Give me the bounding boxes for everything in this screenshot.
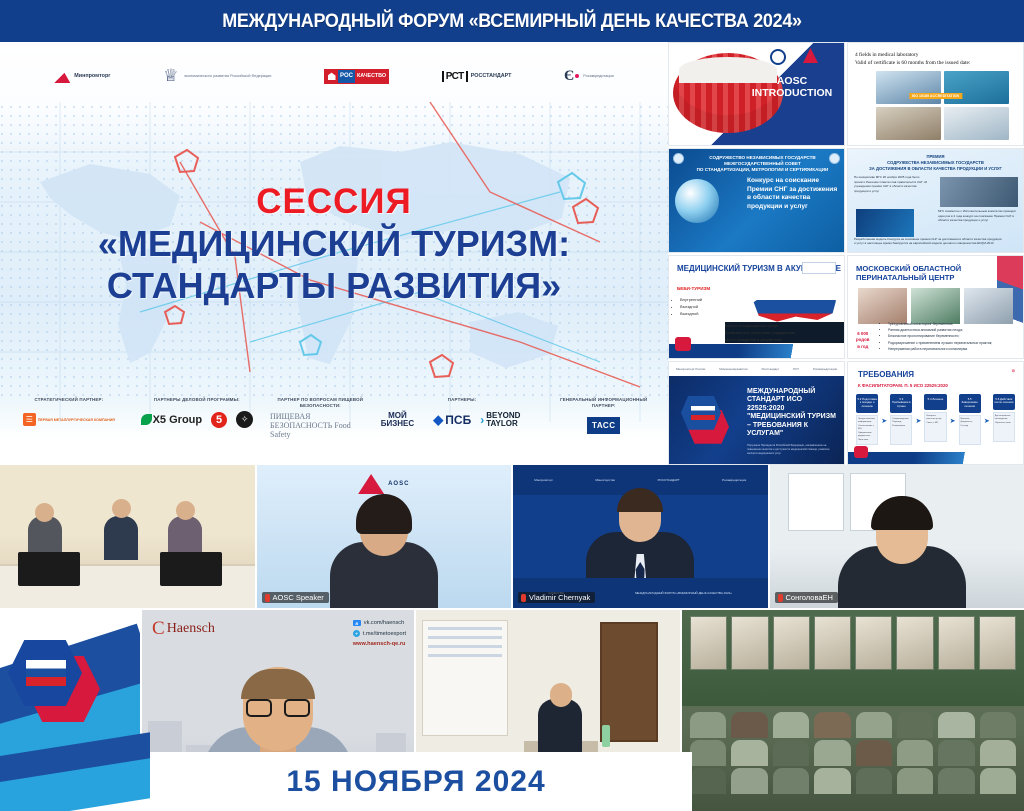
- flow-step-3-cap: 5.4 Лечение: [924, 394, 946, 410]
- logo-minpromtorg: Минпромторг: [54, 69, 110, 83]
- backdrop-logo-6: МЕЖДУНАРОДНЫЙ ФОРУМ «ВСЕМИРНЫЙ ДЕНЬ КАЧЕ…: [635, 591, 732, 595]
- obstetrics-bullet-2: Въездной: [680, 303, 702, 310]
- beyond-swoosh-icon: ›: [480, 413, 484, 427]
- cis-award-body3: Разработанная модель Конкурса на соискан…: [854, 237, 1003, 246]
- flow-arrow-1-icon: ➤: [881, 417, 887, 425]
- obstetrics-bullets: Внутренний Въездной Выездной: [680, 296, 702, 317]
- obstetrics-b2-2: Возможность получения гражданства: [725, 329, 845, 336]
- thumb-aosc-introduction[interactable]: AOSC INTRODUCTION: [668, 42, 845, 146]
- session-label: СЕССИЯ: [0, 182, 668, 222]
- top-logo-row: Минпромторг ♕ экономического развития Ро…: [0, 56, 668, 96]
- haensch-brand-label: Haensch: [167, 621, 215, 637]
- forum-mark-icon: [675, 337, 691, 351]
- video-tile-vladimir-chernyak[interactable]: Минпромторг Министерство РОССТАНДАРТ Рос…: [513, 465, 768, 608]
- session-title-line2: СТАНДАРТЫ РАЗВИТИЯ»: [0, 266, 668, 306]
- russian-flag-icon: [26, 660, 66, 686]
- roskachestvo-icon: РОС КАЧЕСТВО: [324, 69, 389, 84]
- logo-minekonom-label: экономического развития Российской Федер…: [184, 74, 271, 78]
- logo-magnit: ✧: [236, 411, 253, 428]
- aosc-brand-label: AOSC: [388, 481, 409, 487]
- portrait-gallery: [690, 616, 1016, 670]
- logo-rosakkreditatsiya: Є Росаккредитация: [564, 68, 614, 85]
- mic-icon: [265, 594, 270, 602]
- name-chip-vladimir-chernyak: Vladimir Chernyak: [518, 592, 595, 603]
- forum-hexagon-emblem-icon: [681, 396, 733, 446]
- flow-arrow-4-icon: ➤: [984, 417, 990, 425]
- obstetrics-b2-3: Место рождения в документах: [725, 336, 845, 343]
- logo-x5group-label: X5 Group: [153, 414, 203, 426]
- minpromtorg-icon: [54, 69, 70, 83]
- flow-step-2-body: Сопровождение; Перевод; Размещение: [890, 415, 912, 445]
- aosc-triangle-icon: [803, 48, 818, 63]
- lab-line2: Valid of certificate is 60 months from t…: [855, 60, 970, 68]
- iso-accreditation-badge: ISO 15189 ACCREDITATION: [909, 93, 962, 99]
- iso-header-logos: Минпромторг России Минэкономразвития Рос…: [669, 362, 844, 376]
- logo-beyond-taylor: › BEYOND TAYLOR: [480, 412, 553, 428]
- flow-arrow-2-icon: ➤: [915, 417, 921, 425]
- main-slide: Минпромторг ♕ экономического развития Ро…: [0, 42, 668, 465]
- logo-rosstandart: РСТ РОССТАНДАРТ: [442, 71, 512, 82]
- iso-logo-3: Росстандарт: [762, 367, 780, 371]
- logo-minekonomrazvitiya: ♕ экономического развития Российской Фед…: [163, 67, 271, 86]
- partner-group-media: ГЕНЕРАЛЬНЫЙ ИНФОРМАЦИОННЫЙ ПАРТНЕР: ТАСС: [553, 397, 654, 439]
- presentation-screen: [422, 620, 508, 736]
- obstetrics-bullet-1: Внутренний: [680, 296, 702, 303]
- requirements-flow: 5.2 Подготовка к поездке и лечению Предо…: [856, 394, 1015, 445]
- iso-logo-1: Минпромторг России: [676, 367, 705, 371]
- cis-globe-icon: [675, 179, 719, 223]
- logo-roskachestvo: РОС КАЧЕСТВО: [324, 69, 389, 84]
- logo-psb: ◆ ПСБ: [433, 412, 471, 428]
- name-chip-songolova: СонголоваЕН: [775, 592, 838, 603]
- lab-photo-grid: [876, 71, 1009, 140]
- name-label-aosc-speaker: AOSC Speaker: [273, 593, 324, 602]
- thumb-aosc-title: AOSC INTRODUCTION: [746, 75, 838, 99]
- audience-seating: [682, 706, 1024, 811]
- obstetrics-bullets-2: Качество медицинских услуг Возможность п…: [725, 322, 845, 343]
- logo-moy-biznes: МОЙ БИЗНЕС: [371, 412, 425, 428]
- iso-standard-title: МЕЖДУНАРОДНЫЙ СТАНДАРТ ИСО 22525:2020 "М…: [747, 388, 838, 439]
- logo-rosakkreditatsiya-label: Росаккредитация: [583, 74, 613, 78]
- backdrop-logo-4: Росаккредитация: [722, 478, 746, 482]
- logo-kachestvo-label: КАЧЕСТВО: [355, 70, 388, 83]
- haensch-site-link[interactable]: www.haensch-qe.ru: [353, 639, 406, 650]
- partner-group-business-label: ПАРТНЕРЫ ДЕЛОВОЙ ПРОГРАММЫ:: [154, 397, 240, 403]
- aosc-seal-icon: [770, 49, 786, 65]
- logo-pervaya-label: ПЕРВАЯ МЕТАЛЛУРГИЧЕСКАЯ КОМПАНИЯ: [38, 418, 115, 422]
- slide-thumbnail-grid: AOSC INTRODUCTION 4 fields in medical la…: [668, 42, 1024, 465]
- haensch-links: B vk.com/haensch ✈ t.me/timetoexport www…: [353, 618, 406, 650]
- aosc-line1: AOSC: [746, 75, 838, 87]
- cis-award-body1: По инициативе МГС 26 ноября 2005 года бы…: [854, 175, 928, 193]
- requirements-mark-icon: [854, 446, 868, 458]
- iso-logo-2: Минэкономразвития: [719, 367, 747, 371]
- lab-heading: 4 fields in medical laboratory Valid of …: [855, 52, 970, 68]
- video-tile-conference-room[interactable]: [0, 465, 255, 608]
- perinatal-bullet-5: Непрерывная работа перинатального консил…: [888, 346, 1017, 352]
- session-title-line1: «МЕДИЦИНСКИЙ ТУРИЗМ:: [0, 224, 668, 264]
- obstetrics-b2-1: Качество медицинских услуг: [725, 322, 845, 329]
- flow-step-3: 5.4 Лечение Контроль качества услуг; Свя…: [924, 394, 946, 442]
- partner-group-strategic-label: СТРАТЕГИЧЕСКИЙ ПАРТНЕР:: [34, 397, 103, 403]
- thumb-moscow-perinatal-center[interactable]: МОСКОВСКИЙ ОБЛАСТНОЙ ПЕРИНАТАЛЬНЫЙ ЦЕНТР…: [847, 255, 1024, 359]
- partner-group-food-safety-label: ПАРТНЕР ПО ВОПРОСАМ ПИЩЕВОЙ БЕЗОПАСНОСТИ…: [270, 397, 371, 409]
- thumb-medical-tourism-obstetrics[interactable]: МЕДИЦИНСКИЙ ТУРИЗМ В АКУШЕРСТВЕ БЕБИ-ТУР…: [668, 255, 845, 359]
- participant-video-row: AOSC AOSC Speaker Минпромторг Министерст…: [0, 465, 1024, 608]
- cis-emblem-left-icon: [673, 153, 684, 164]
- glasses-icon: [246, 699, 310, 717]
- partner-group-food-safety: ПАРТНЕР ПО ВОПРОСАМ ПИЩЕВОЙ БЕЗОПАСНОСТИ…: [270, 397, 371, 439]
- requirements-title: ТРЕБОВАНИЯ: [858, 370, 914, 379]
- thumb-facilitator-requirements[interactable]: ⊙ ТРЕБОВАНИЯ К ФАСИЛИТАТОРАМ. П. 5 ИСО 2…: [847, 361, 1024, 465]
- metallurg-icon: ☰: [23, 413, 36, 426]
- flow-arrow-3-icon: ➤: [950, 417, 956, 425]
- logo-beyond-label: BEYOND TAYLOR: [486, 412, 553, 428]
- rosakkreditatsiya-icon: Є: [564, 68, 574, 85]
- perinatal-bullets: Трёхуровневый мониторинг беременных; Ран…: [888, 321, 1017, 352]
- iso-logo-5: Росаккредитация: [813, 367, 837, 371]
- flow-step-4-body: Выписка; Документы; Отъезд: [959, 415, 981, 445]
- cis-org-line3: ПО СТАНДАРТИЗАЦИИ, МЕТРОЛОГИИ И СЕРТИФИК…: [687, 167, 838, 173]
- perinatal-photos: [858, 288, 1013, 324]
- x5-leaf-icon: [141, 414, 152, 425]
- logo-x5group: X5 Group: [141, 414, 203, 426]
- cis-org-heading: СОДРУЖЕСТВО НЕЗАВИСИМЫХ ГОСУДАРСТВ МЕЖГО…: [687, 155, 838, 173]
- flow-step-1-body: Предоставление информации; Согласование …: [856, 415, 878, 446]
- obstetrics-subtitle: БЕБИ-ТУРИЗМ: [677, 286, 710, 291]
- flow-step-5-body: Дистанционное наблюдение; Обратная связь: [993, 412, 1015, 442]
- logo-psb-label: ПСБ: [445, 413, 471, 427]
- conference-hall-photo: [682, 610, 1024, 811]
- forum-collage: МЕЖДУНАРОДНЫЙ ФОРУМ «ВСЕМИРНЫЙ ДЕНЬ КАЧЕ…: [0, 0, 1024, 811]
- requirements-footer-swoosh: [848, 452, 1023, 464]
- logo-pyaterochka: 5: [211, 412, 227, 428]
- logo-tass: ТАСС: [587, 417, 621, 434]
- backdrop-logo-2: Министерство: [595, 478, 615, 482]
- partner-group-media-label: ГЕНЕРАЛЬНЫЙ ИНФОРМАЦИОННЫЙ ПАРТНЕР:: [553, 397, 654, 409]
- slide-footer-swoosh: [669, 344, 844, 358]
- cis-award-heading: ПРЕМИЯ СОДРУЖЕСТВА НЕЗАВИСИМЫХ ГОСУДАРСТ…: [862, 154, 1009, 172]
- mic-icon: [778, 594, 783, 602]
- perinatal-stat-unit1: родов: [856, 337, 869, 343]
- flow-step-4-cap: 5.5 Завершение лечения: [959, 394, 981, 413]
- logo-pervaya-metallurgicheskaya: ☰ ПЕРВАЯ МЕТАЛЛУРГИЧЕСКАЯ КОМПАНИЯ: [23, 413, 115, 426]
- mic-icon: [521, 594, 526, 602]
- partner-group-partners: ПАРТНЕРЫ: МОЙ БИЗНЕС ◆ ПСБ › BEYOND TAYL…: [371, 397, 554, 433]
- perinatal-stat-unit2: в год: [856, 344, 869, 350]
- flow-step-5-cap: 5.6 Действия после лечения: [993, 394, 1015, 410]
- thumb-medical-lab-fields[interactable]: 4 fields in medical laboratory Valid of …: [847, 42, 1024, 146]
- logo-food-safety: ПИЩЕВАЯ БЕЗОПАСНОСТЬ Food Safety: [270, 412, 371, 439]
- iso-standard-note: Поручение Президента Российской Федераци…: [747, 444, 836, 456]
- haensch-vk-link[interactable]: vk.com/haensch: [364, 618, 404, 629]
- obstetrics-bullet-3: Выездной: [680, 310, 702, 317]
- haensch-logo: C Haensch: [152, 618, 215, 640]
- backdrop-logo-3: РОССТАНДАРТ: [658, 478, 680, 482]
- logo-minpromtorg-label: Минпромторг: [74, 73, 110, 79]
- double-eagle-icon: ♕: [163, 67, 180, 86]
- header-bar: МЕЖДУНАРОДНЫЙ ФОРУМ «ВСЕМИРНЫЙ ДЕНЬ КАЧЕ…: [0, 0, 1024, 42]
- haensch-tg-link[interactable]: t.me/timetoexport: [363, 629, 406, 640]
- name-label-vladimir-chernyak: Vladimir Chernyak: [529, 593, 590, 602]
- aosc-line2: INTRODUCTION: [746, 87, 838, 99]
- cis-competition-title: Конкурс на соискание Премии СНГ за дости…: [747, 177, 839, 211]
- aosc-triangle-icon: [358, 474, 384, 494]
- partners-row: СТРАТЕГИЧЕСКИЙ ПАРТНЕР: ☰ ПЕРВАЯ МЕТАЛЛУ…: [0, 397, 668, 459]
- vk-icon: B: [353, 620, 361, 626]
- thumb-iso-22525-standard[interactable]: Минпромторг России Минэкономразвития Рос…: [668, 361, 845, 465]
- partner-group-strategic: СТРАТЕГИЧЕСКИЙ ПАРТНЕР: ☰ ПЕРВАЯ МЕТАЛЛУ…: [14, 397, 124, 433]
- logo-rosstandart-label: РОССТАНДАРТ: [471, 73, 512, 79]
- lab-line1: 4 fields in medical laboratory: [855, 52, 970, 60]
- partner-group-partners-label: ПАРТНЕРЫ:: [448, 397, 476, 403]
- video-tile-songolova[interactable]: СонголоваЕН: [770, 465, 1024, 608]
- partner-group-business-program: ПАРТНЕРЫ ДЕЛОВОЙ ПРОГРАММЫ: X5 Group 5 ✧: [124, 397, 270, 433]
- haensch-c-icon: C: [152, 618, 165, 640]
- date-bar: 15 НОЯБРЯ 2024: [140, 752, 692, 811]
- perinatal-stat: 6 000 родов в год: [856, 331, 869, 349]
- forum-date: 15 НОЯБРЯ 2024: [286, 765, 545, 799]
- flow-step-2: 5.3 Пребывание в стране Сопровождение; П…: [890, 394, 912, 445]
- cis-award-photo: [940, 177, 1018, 207]
- video-tile-aosc-speaker[interactable]: AOSC AOSC Speaker: [257, 465, 512, 608]
- requirements-subtitle: К ФАСИЛИТАТОРАМ. П. 5 ИСО 22525:2020: [858, 383, 948, 388]
- flow-step-5: 5.6 Действия после лечения Дистанционное…: [993, 394, 1015, 442]
- name-chip-aosc-speaker: AOSC Speaker: [262, 592, 329, 603]
- rst-icon: РСТ: [442, 71, 468, 82]
- obstetrics-logo-box: [802, 262, 836, 274]
- backdrop-logo-1: Минпромторг: [534, 478, 553, 482]
- thumb-cis-award[interactable]: ПРЕМИЯ СОДРУЖЕСТВА НЕЗАВИСИМЫХ ГОСУДАРСТ…: [847, 148, 1024, 252]
- cis-award-photo-2: [856, 209, 914, 237]
- iso-logo-4: РСТ: [793, 367, 799, 371]
- slide-title-block: СЕССИЯ «МЕДИЦИНСКИЙ ТУРИЗМ: СТАНДАРТЫ РА…: [0, 182, 668, 307]
- telegram-icon: ✈: [353, 630, 360, 637]
- flow-step-1: 5.2 Подготовка к поездке и лечению Предо…: [856, 394, 878, 445]
- flow-step-1-cap: 5.2 Подготовка к поездке и лечению: [856, 394, 878, 413]
- door: [600, 622, 658, 742]
- logo-moy-biznes-label: МОЙ БИЗНЕС: [381, 411, 414, 428]
- flow-step-4: 5.5 Завершение лечения Выписка; Документ…: [959, 394, 981, 445]
- flow-step-2-cap: 5.3 Пребывание в стране: [890, 394, 912, 413]
- roskachestvo-small-icon: ⊙: [1012, 368, 1015, 373]
- thumb-cis-award-competition[interactable]: СОДРУЖЕСТВО НЕЗАВИСИМЫХ ГОСУДАРСТВ МЕЖГО…: [668, 148, 845, 252]
- cis-award-body2: МГС совместно с Исполнительным комитетом…: [938, 209, 1018, 223]
- logo-ros-label: РОС: [338, 70, 355, 83]
- certificate-1: [788, 473, 844, 531]
- cis-award-hd3: ЗА ДОСТИЖЕНИЯ В ОБЛАСТИ КАЧЕСТВА ПРОДУКЦ…: [862, 166, 1009, 172]
- name-label-songolova: СонголоваЕН: [786, 593, 833, 602]
- psb-bolt-icon: ◆: [433, 412, 443, 428]
- perinatal-title: МОСКОВСКИЙ ОБЛАСТНОЙ ПЕРИНАТАЛЬНЫЙ ЦЕНТР: [856, 264, 1023, 282]
- header-title: МЕЖДУНАРОДНЫЙ ФОРУМ «ВСЕМИРНЫЙ ДЕНЬ КАЧЕ…: [222, 10, 802, 33]
- aosc-logo: AOSC: [358, 474, 409, 494]
- flow-step-3-body: Контроль качества услуг; Связь с МО: [924, 412, 946, 442]
